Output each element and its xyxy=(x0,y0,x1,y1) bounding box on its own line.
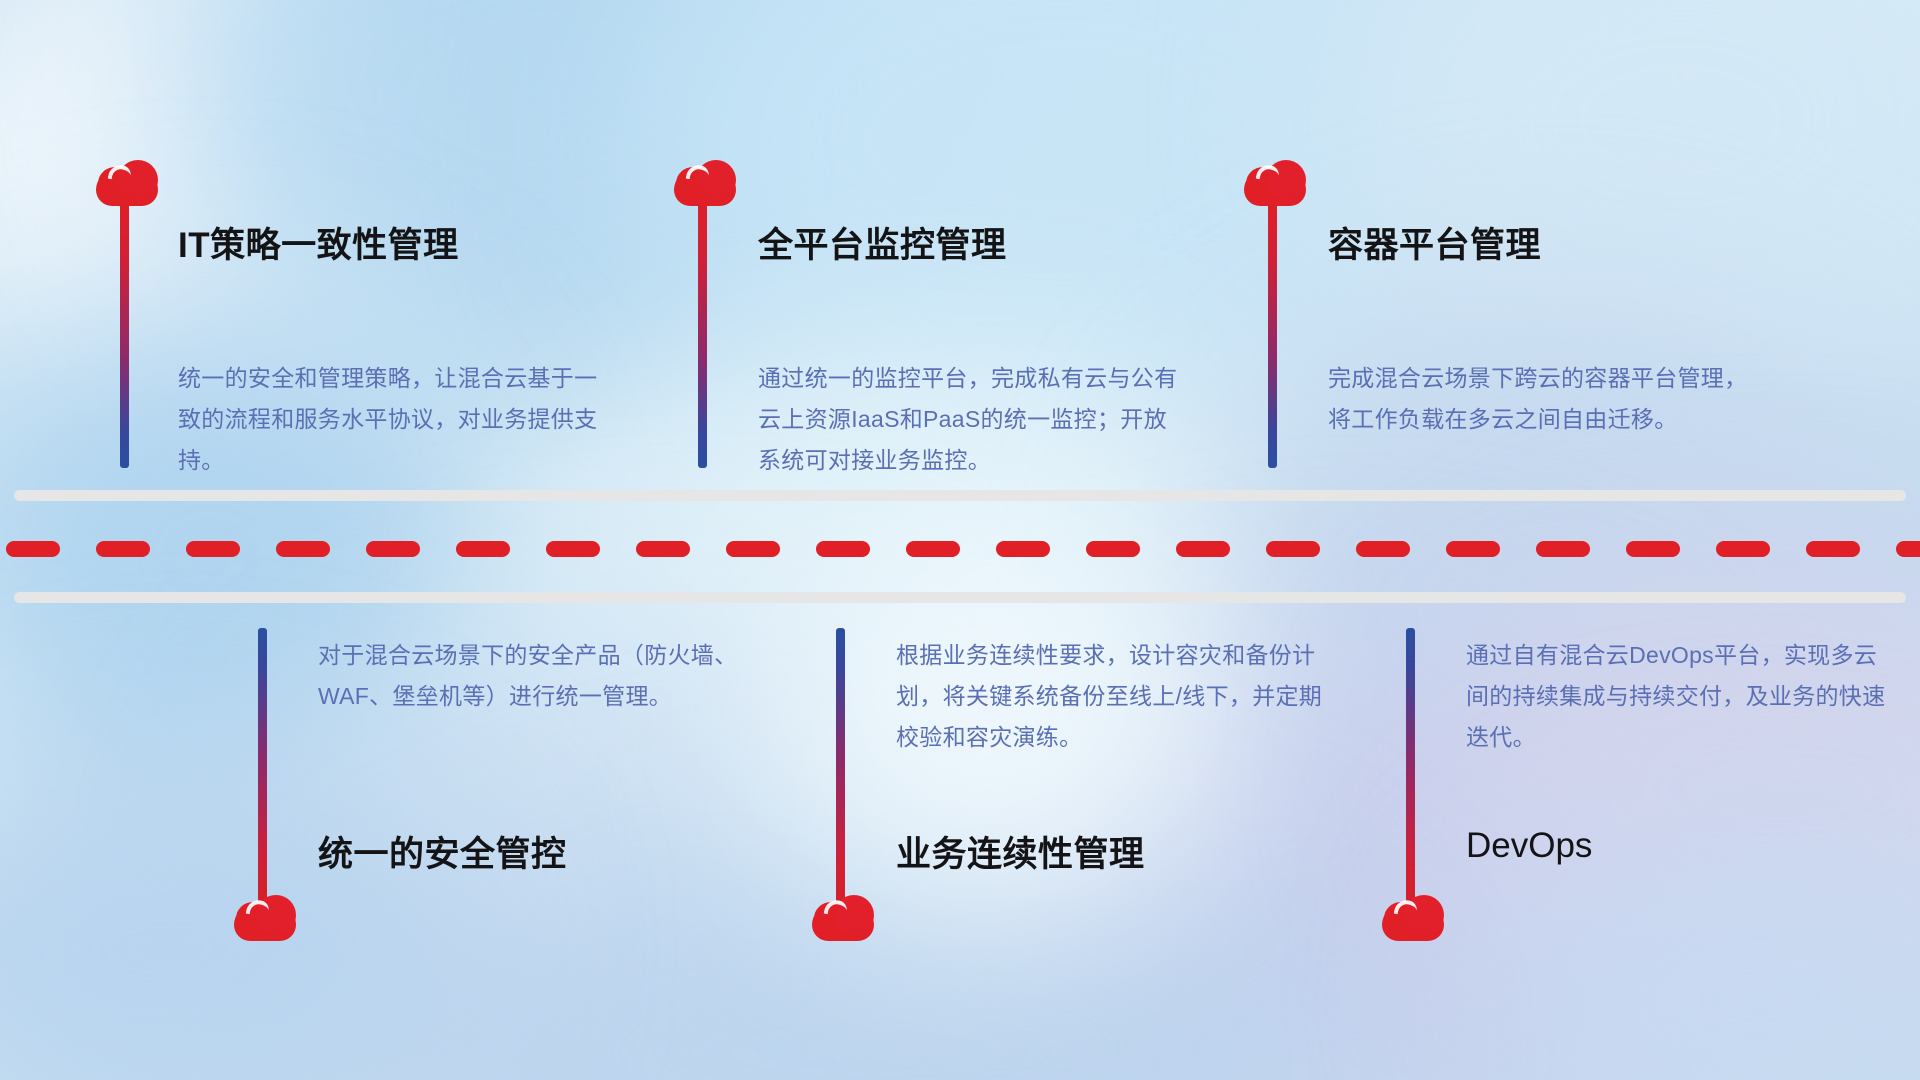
node-body-text: 对于混合云场景下的安全产品（防火墙、WAF、堡垒机等）进行统一管理。 xyxy=(318,635,748,717)
node-body-text: 根据业务连续性要求，设计容灾和备份计划，将关键系统备份至线上/线下，并定期校验和… xyxy=(896,635,1326,758)
node-title: 全平台监控管理 xyxy=(758,217,1007,268)
node-body-text: 统一的安全和管理策略，让混合云基于一致的流程和服务水平协议，对业务提供支持。 xyxy=(178,358,608,481)
cloud-icon xyxy=(234,895,296,941)
connector-stem xyxy=(1406,628,1415,913)
connector-stem xyxy=(120,203,129,468)
cloud-icon xyxy=(96,160,158,206)
cloud-icon xyxy=(812,895,874,941)
node-body-text: 通过统一的监控平台，完成私有云与公有云上资源IaaS和PaaS的统一监控；开放系… xyxy=(758,358,1188,481)
connector-stem xyxy=(836,628,845,913)
connector-stem xyxy=(1268,203,1277,468)
connector-stem xyxy=(258,628,267,913)
cloud-icon xyxy=(1244,160,1306,206)
divider-rule-bottom xyxy=(14,592,1906,603)
node-title: 容器平台管理 xyxy=(1328,217,1541,268)
node-body-text: 通过自有混合云DevOps平台，实现多云间的持续集成与持续交付，及业务的快速迭代… xyxy=(1466,635,1896,758)
divider-rule-top xyxy=(14,490,1906,501)
node-title: IT策略一致性管理 xyxy=(178,217,459,268)
node-title: DevOps xyxy=(1466,826,1592,866)
cloud-icon xyxy=(674,160,736,206)
cloud-icon xyxy=(1382,895,1444,941)
connector-stem xyxy=(698,203,707,468)
node-body-text: 完成混合云场景下跨云的容器平台管理，将工作负载在多云之间自由迁移。 xyxy=(1328,358,1758,440)
divider-dashed-line xyxy=(0,541,1920,557)
node-title: 统一的安全管控 xyxy=(318,826,567,877)
node-title: 业务连续性管理 xyxy=(896,826,1145,877)
